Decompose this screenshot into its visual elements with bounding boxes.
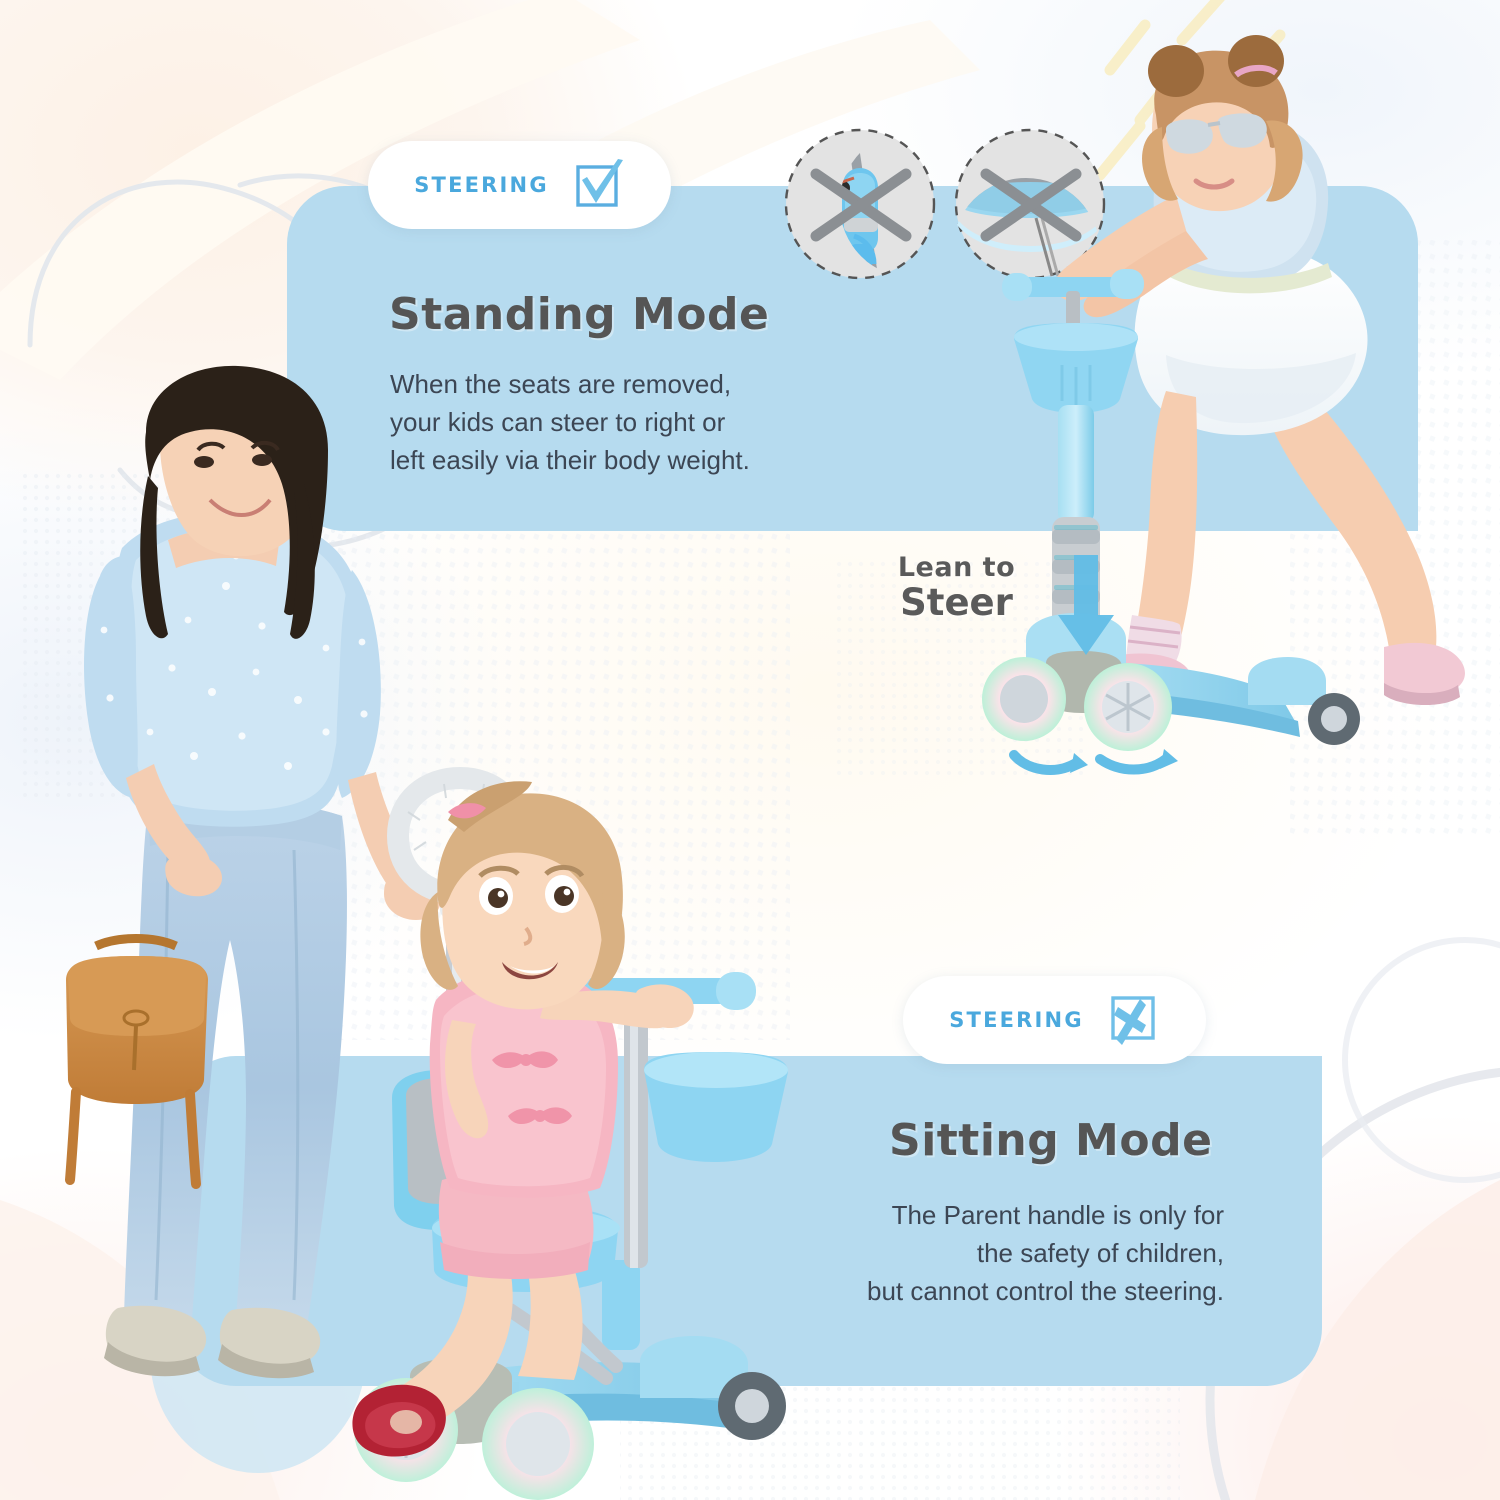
- standing-mode-photo: [980, 55, 1500, 775]
- checkbox-crossed-icon: [1106, 993, 1160, 1047]
- standing-mode-title: Standing Mode: [389, 289, 769, 340]
- sitting-steering-tab[interactable]: STEERING: [903, 976, 1206, 1064]
- no-parent-handle-icon: [782, 126, 938, 282]
- standing-steering-tab[interactable]: STEERING: [368, 141, 671, 229]
- sitting-mode-title: Sitting Mode: [889, 1115, 1212, 1166]
- lean-to-steer-callout: Lean to Steer: [884, 552, 1029, 624]
- checkbox-checked-icon: [571, 158, 625, 212]
- infographic-stage: STEERING Standing Mode When the seats ar…: [0, 0, 1500, 1500]
- lean-to-steer-line1: Lean to: [884, 552, 1029, 583]
- lean-to-steer-line2: Steer: [884, 581, 1029, 624]
- sitting-mode-body: The Parent handle is only for the safety…: [834, 1196, 1224, 1310]
- sitting-mode-photo: [40, 380, 860, 1500]
- sitting-steering-label: STEERING: [949, 1008, 1084, 1032]
- standing-steering-label: STEERING: [414, 173, 549, 197]
